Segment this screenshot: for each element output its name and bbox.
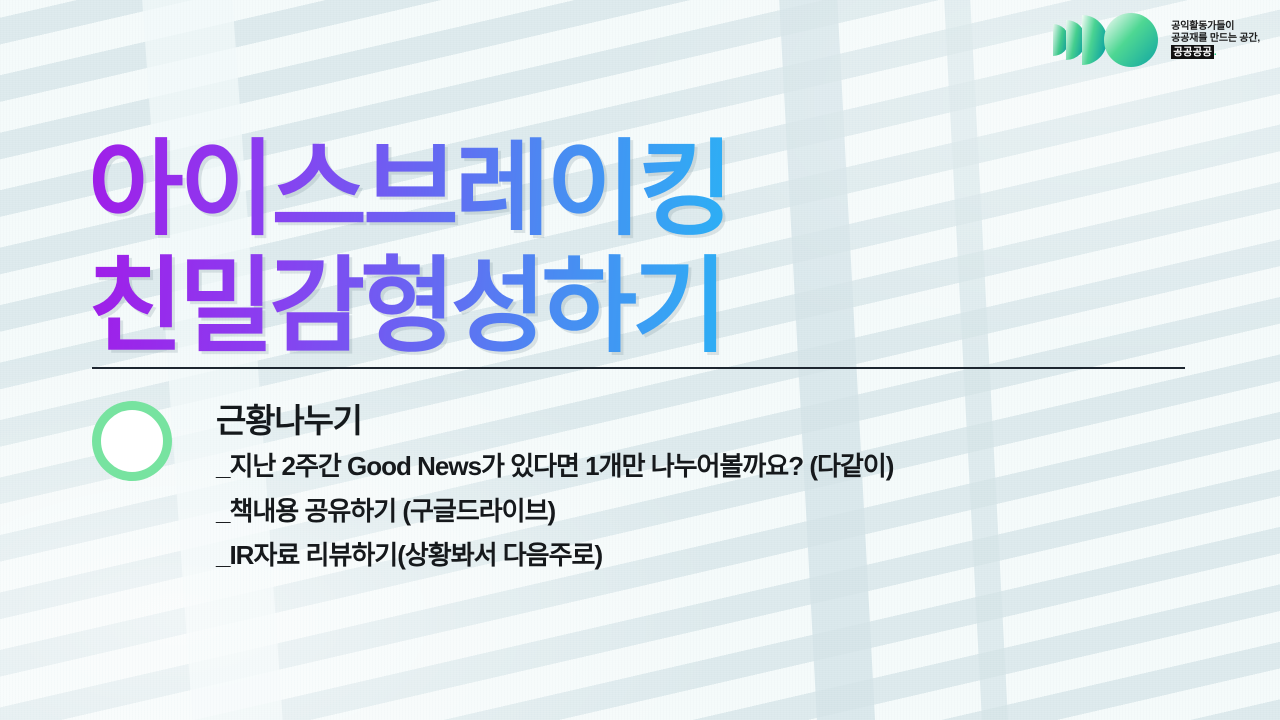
section-circle-marker bbox=[92, 401, 172, 481]
horizontal-divider bbox=[92, 367, 1185, 369]
page-title: 아이스브레이킹 친밀감형성하기 bbox=[88, 132, 730, 367]
logo-tagline-line2: 공공재를 만드는 공간, bbox=[1171, 33, 1260, 45]
page-title-line-2: 친밀감형성하기 bbox=[88, 249, 730, 367]
logo-brand-dot: . bbox=[1214, 47, 1217, 58]
list-item: _책내용 공유하기 (구글드라이브) bbox=[216, 489, 1226, 534]
page-title-line-1: 아이스브레이킹 bbox=[88, 132, 730, 250]
list-item: _IR자료 리뷰하기(상황봐서 다음주로) bbox=[216, 533, 1226, 578]
logo-tagline: 공익활동가들이 공공재를 만드는 공간, 공공공공. bbox=[1171, 21, 1260, 60]
presentation-slide: 공익활동가들이 공공재를 만드는 공간, 공공공공. 아이스브레이킹 친밀감형성… bbox=[0, 0, 1280, 720]
content-block: 근황나누기 _지난 2주간 Good News가 있다면 1개만 나누어볼까요?… bbox=[216, 402, 1226, 578]
list-item: _지난 2주간 Good News가 있다면 1개만 나누어볼까요? (다같이) bbox=[216, 444, 1226, 489]
agenda-list: _지난 2주간 Good News가 있다면 1개만 나누어볼까요? (다같이)… bbox=[216, 444, 1226, 578]
logo-brand-line: 공공공공. bbox=[1171, 45, 1260, 59]
logo-brand-name: 공공공공 bbox=[1171, 45, 1214, 59]
logo-tagline-line1: 공익활동가들이 bbox=[1171, 21, 1260, 33]
gonggong-circles-logo-icon bbox=[1041, 10, 1161, 70]
section-heading: 근황나누기 bbox=[216, 402, 1226, 441]
organization-logo: 공익활동가들이 공공재를 만드는 공간, 공공공공. bbox=[1041, 10, 1260, 70]
